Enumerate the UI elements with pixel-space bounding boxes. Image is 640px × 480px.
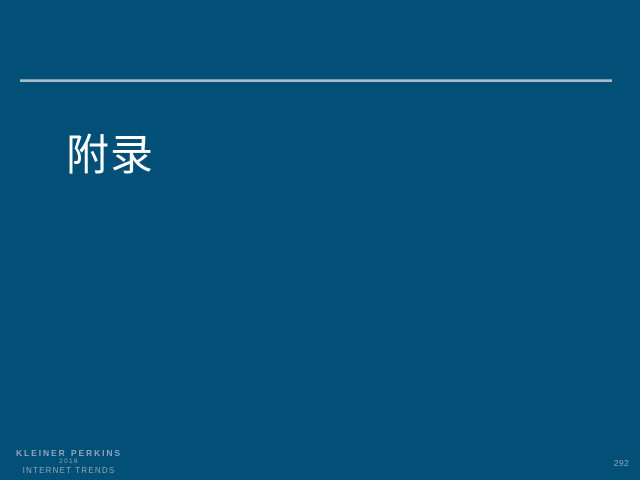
brand-year: 2018 xyxy=(9,458,129,466)
brand-lockup: KLEINER PERKINS 2018 INTERNET TRENDS xyxy=(9,448,129,476)
brand-name: KLEINER PERKINS xyxy=(9,448,129,458)
header-divider-rule xyxy=(20,79,612,82)
page-number: 292 xyxy=(614,458,629,468)
page-title: 附录 xyxy=(66,131,154,181)
brand-report-title: INTERNET TRENDS xyxy=(9,466,129,476)
slide-canvas: 附录 KLEINER PERKINS 2018 INTERNET TRENDS … xyxy=(0,0,640,480)
